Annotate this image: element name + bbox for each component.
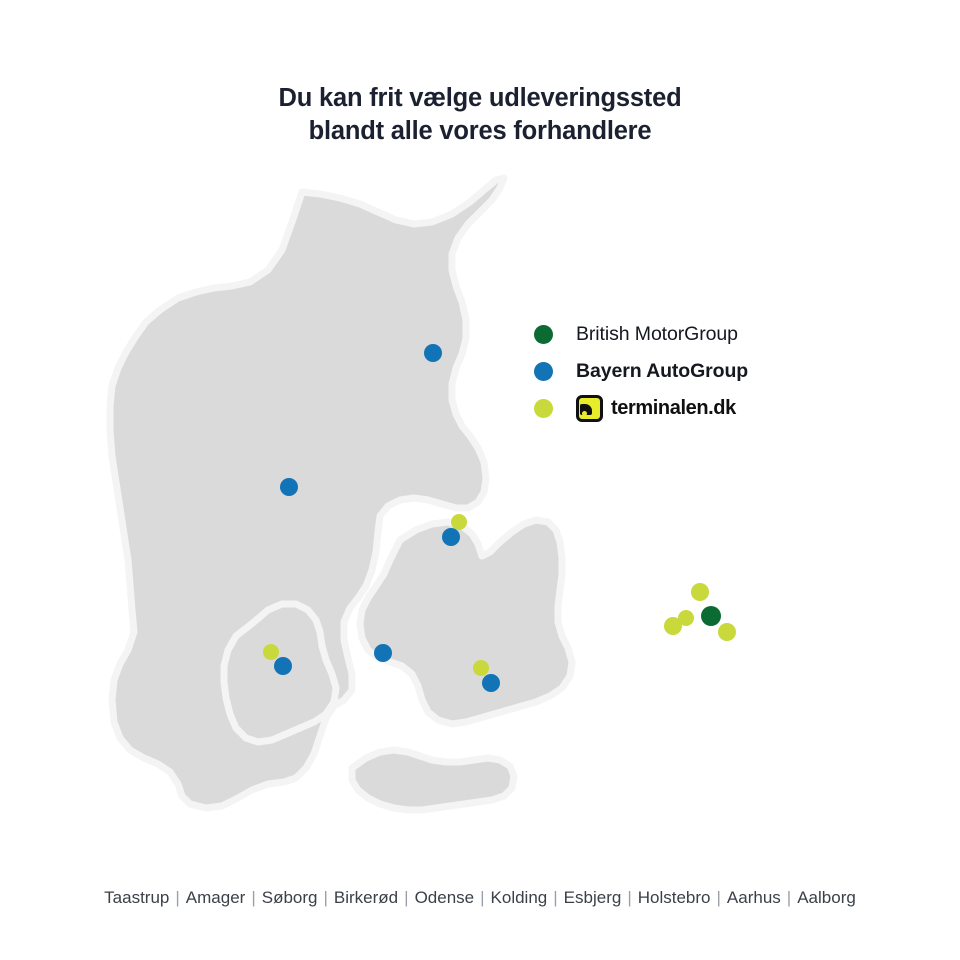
map-marker-aalborg[interactable]: [424, 344, 442, 362]
legend-item-bayern-autogroup[interactable]: Bayern AutoGroup: [534, 353, 834, 390]
city-separator: |: [170, 888, 184, 907]
city-item-aarhus[interactable]: Aarhus: [726, 888, 782, 907]
city-item-kolding[interactable]: Kolding: [490, 888, 549, 907]
city-separator: |: [782, 888, 796, 907]
legend-label-british-motorgroup: British MotorGroup: [576, 323, 738, 346]
map-marker-amager-green[interactable]: [701, 606, 721, 626]
map-marker-kolding[interactable]: [374, 644, 392, 662]
legend-swatch-blue-dot-icon: [534, 362, 553, 381]
legend-label-terminalen-dk: terminalen.dk: [611, 397, 736, 420]
legend-swatch-green-dot-icon: [534, 325, 553, 344]
terminalen-brand-lockup: terminalen.dk: [576, 395, 736, 422]
city-separator: |: [246, 888, 260, 907]
legend-swatch-lime-dot-icon: [534, 399, 553, 418]
map-legend: British MotorGroup Bayern AutoGroup term…: [534, 316, 834, 427]
page-title-line-1: Du kan frit vælge udleveringssted: [0, 82, 960, 115]
map-marker-aarhus-blue[interactable]: [442, 528, 460, 546]
city-separator: |: [622, 888, 636, 907]
map-marker-odense-lime[interactable]: [473, 660, 489, 676]
city-separator: |: [475, 888, 489, 907]
terminalen-logo-icon: [576, 395, 603, 422]
city-item-aalborg[interactable]: Aalborg: [796, 888, 857, 907]
map-marker-amager-lime[interactable]: [718, 623, 736, 641]
legend-label-bayern-autogroup: Bayern AutoGroup: [576, 360, 748, 383]
page-title-line-2: blandt alle vores forhandlere: [0, 115, 960, 148]
legend-item-british-motorgroup[interactable]: British MotorGroup: [534, 316, 834, 353]
region-lolland-falster: [352, 750, 514, 810]
denmark-map-svg: [0, 170, 960, 830]
map-marker-birkerod[interactable]: [691, 583, 709, 601]
city-item-taastrup[interactable]: Taastrup: [103, 888, 170, 907]
map-marker-taastrup[interactable]: [664, 617, 682, 635]
city-item-holstebro[interactable]: Holstebro: [637, 888, 712, 907]
city-list: Taastrup|Amager|Søborg|Birkerød|Odense|K…: [0, 888, 960, 908]
map-marker-holstebro[interactable]: [280, 478, 298, 496]
city-item-amager[interactable]: Amager: [185, 888, 247, 907]
city-separator: |: [548, 888, 562, 907]
map-marker-esbjerg-blue[interactable]: [274, 657, 292, 675]
city-item-søborg[interactable]: Søborg: [261, 888, 319, 907]
city-separator: |: [399, 888, 413, 907]
map-marker-esbjerg-lime[interactable]: [263, 644, 279, 660]
denmark-map: [0, 170, 960, 830]
city-item-birkerød[interactable]: Birkerød: [333, 888, 399, 907]
map-marker-odense-blue[interactable]: [482, 674, 500, 692]
city-item-esbjerg[interactable]: Esbjerg: [563, 888, 623, 907]
page-title: Du kan frit vælge udleveringssted blandt…: [0, 82, 960, 148]
city-separator: |: [712, 888, 726, 907]
city-item-odense[interactable]: Odense: [414, 888, 476, 907]
legend-item-terminalen-dk[interactable]: terminalen.dk: [534, 390, 834, 427]
city-separator: |: [318, 888, 332, 907]
region-zealand: [360, 520, 572, 724]
